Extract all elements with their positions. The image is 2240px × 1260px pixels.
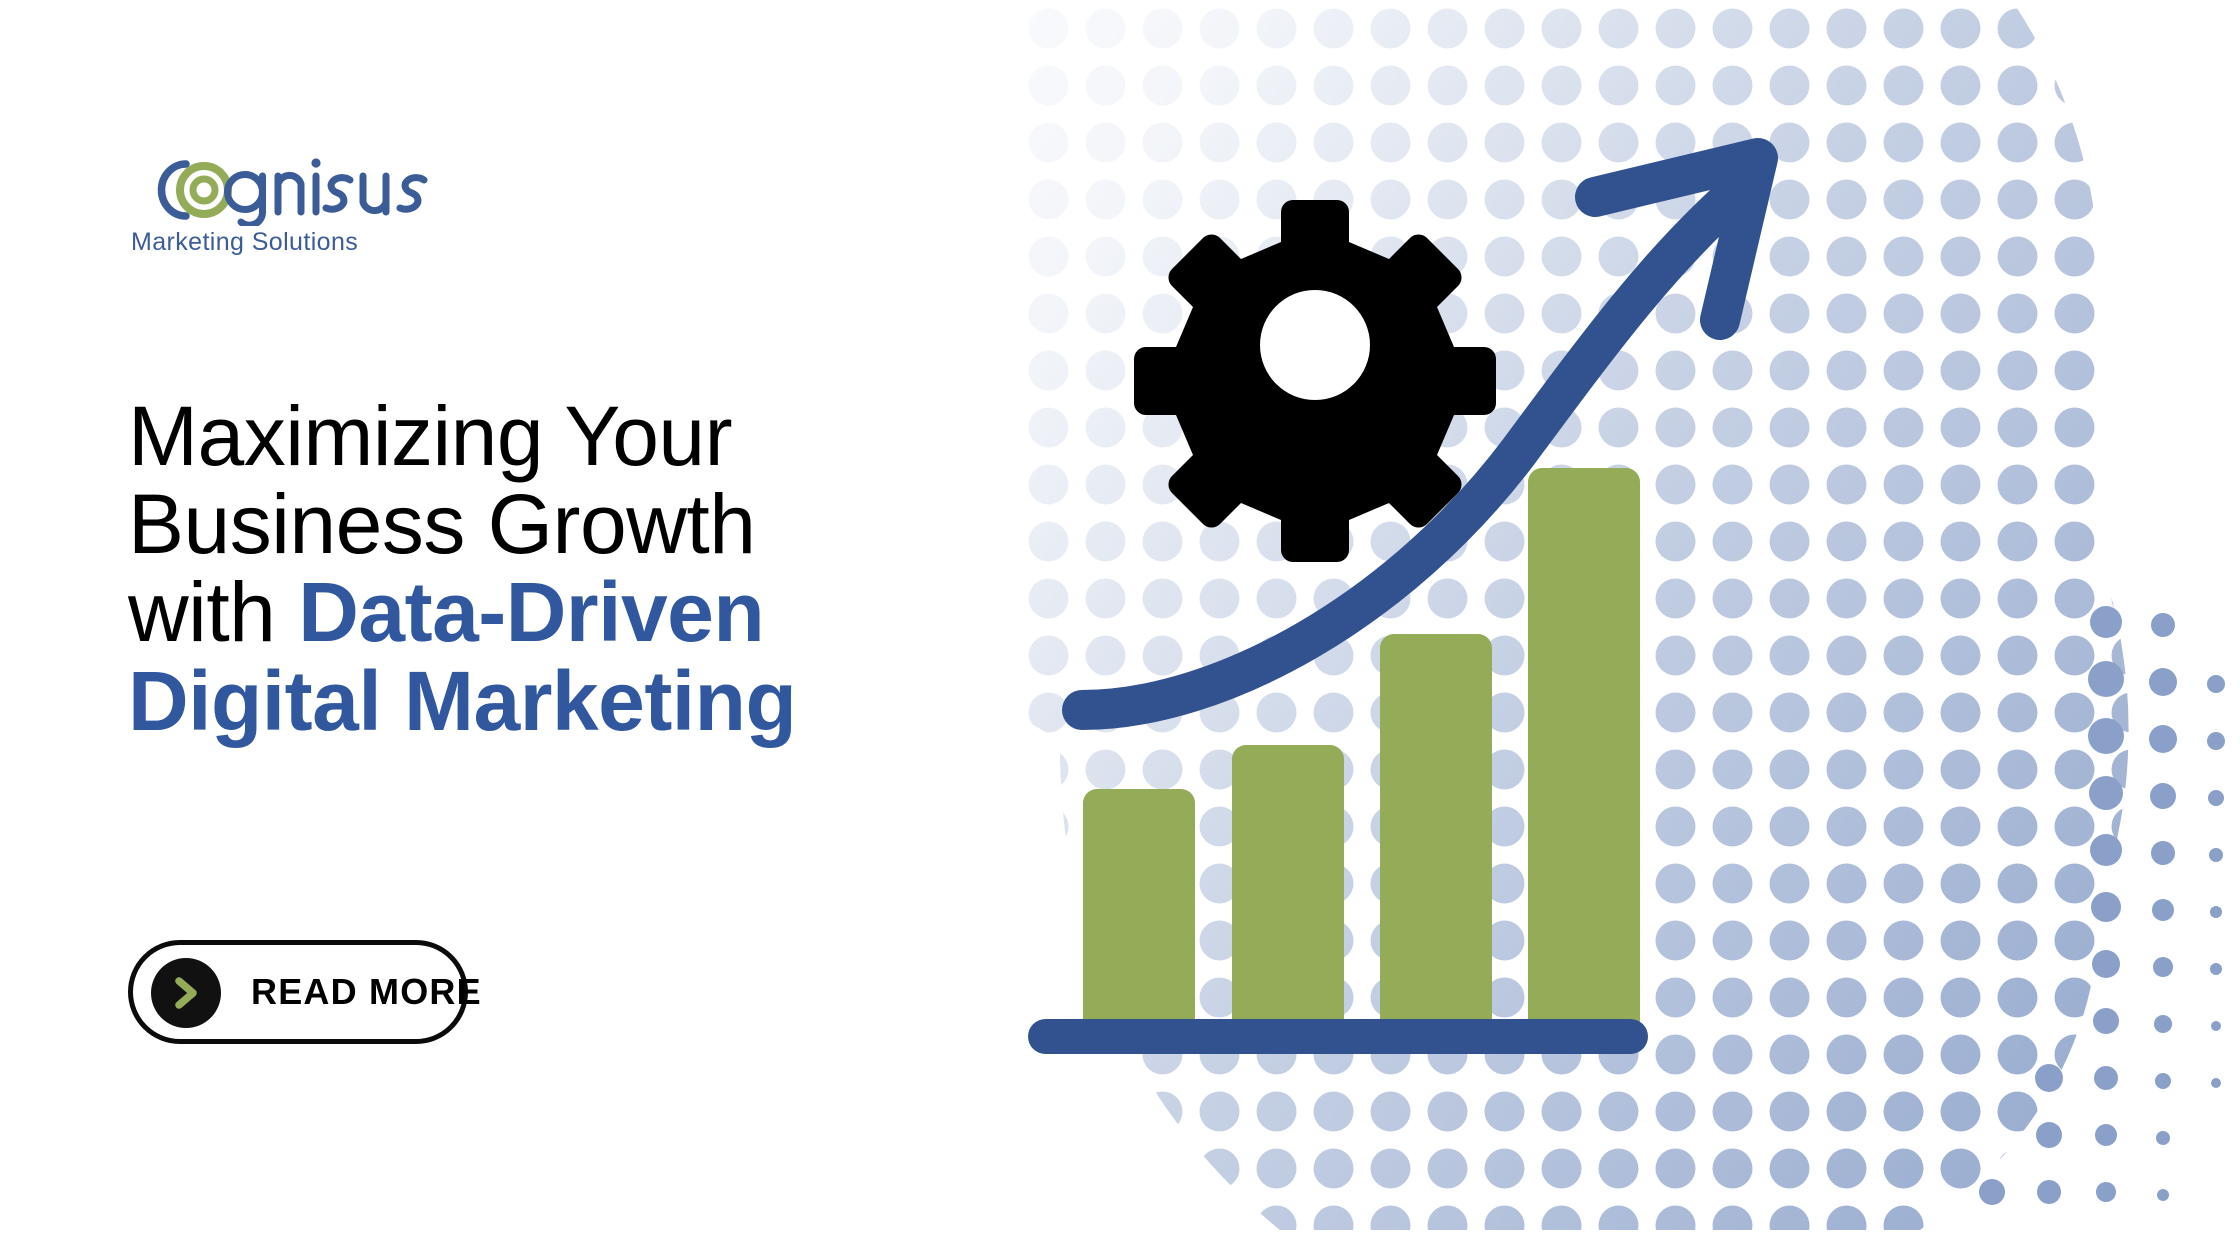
headline-line-1: Maximizing Your [128,392,1068,480]
bar-4 [1528,468,1640,1054]
bar-2 [1232,745,1344,1054]
read-more-label: READ MORE [251,971,482,1013]
headline-line-3: with Data-Driven [128,568,1068,656]
logo-wordmark [128,150,428,224]
illustration-svg [1020,0,2240,1260]
bar-3 [1380,634,1492,1054]
headline-line-3-plain: with [128,565,298,659]
headline-line-3-accent: Data-Driven [298,565,764,659]
read-more-button[interactable]: READ MORE [128,940,468,1044]
gear-hub-hole [1260,290,1370,400]
marketing-banner: Marketing Solutions Maximizing Your Busi… [0,0,2240,1260]
chevron-right-glyph [167,973,205,1013]
headline-line-2: Business Growth [128,480,1068,568]
logo-mark-svg [128,150,428,226]
left-content-column: Marketing Solutions Maximizing Your Busi… [128,0,1128,1260]
page-headline: Maximizing Your Business Growth with Dat… [128,392,1068,745]
growth-chart-illustration [1020,0,2240,1260]
brand-logo[interactable]: Marketing Solutions [128,150,428,270]
gear-icon [1134,200,1496,562]
logo-tagline: Marketing Solutions [131,228,358,257]
headline-line-4-accent: Digital Marketing [128,657,1068,745]
chevron-right-icon [151,958,221,1028]
